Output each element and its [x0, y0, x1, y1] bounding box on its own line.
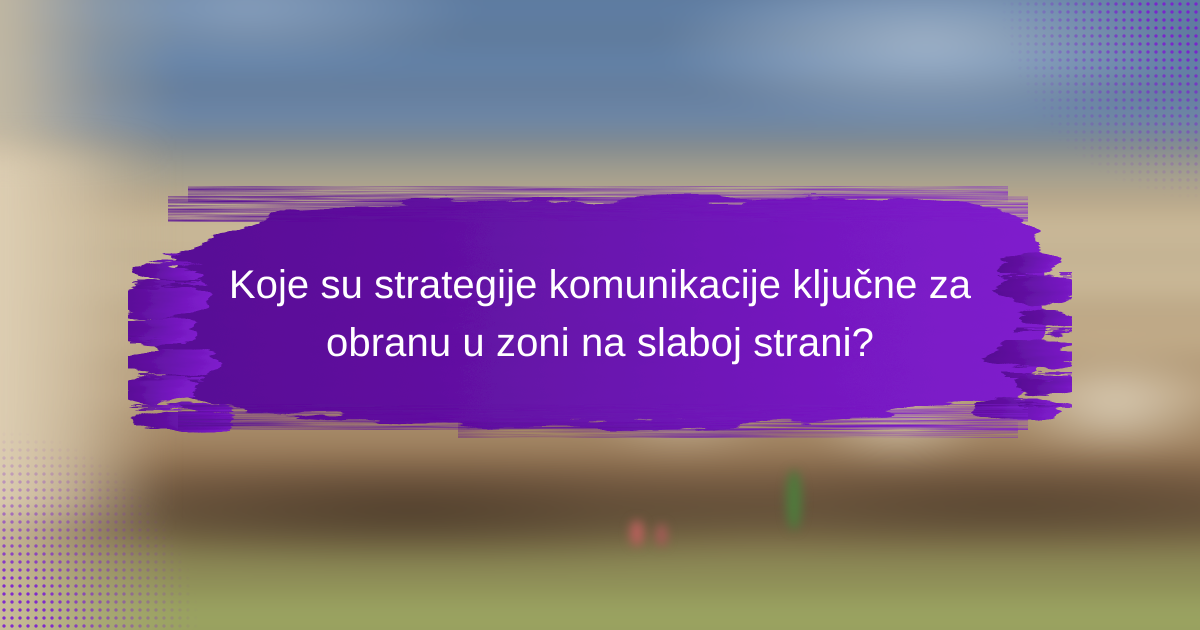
quote-text: Koje su strategije komunikacije ključne …	[150, 178, 1050, 450]
quote-line-1: Koje su strategije komunikacije ključne …	[229, 256, 971, 314]
background-figure-1	[630, 520, 644, 546]
background-figure-3	[786, 470, 802, 530]
background-figure-2	[656, 524, 667, 546]
quote-card: Koje su strategije komunikacije ključne …	[0, 0, 1200, 630]
quote-line-2: obranu u zoni na slaboj strani?	[326, 314, 874, 372]
